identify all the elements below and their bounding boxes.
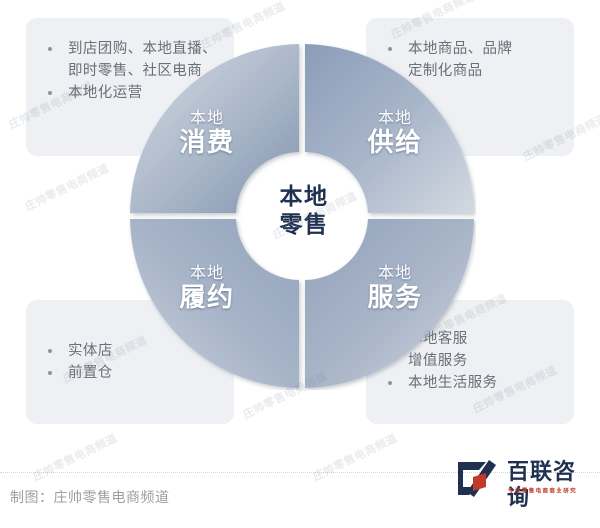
watermark: 庄帅零售电商频道: [30, 430, 120, 485]
diagram-canvas: 到店团购、本地直播、即时零售、社区电商 本地化运营 本地商品、品牌 定制化商品 …: [0, 0, 600, 528]
watermark: 庄帅零售电商频道: [22, 160, 112, 215]
segment-local-supply: [305, 44, 474, 213]
segment-local-consumption: [130, 44, 299, 213]
segment-local-fulfillment: [130, 219, 299, 388]
watermark: 庄帅零售电商频道: [310, 430, 400, 485]
logo-mark-icon: [455, 457, 499, 499]
four-quadrant-donut: [128, 42, 476, 390]
logo-text: 百联咨询: [507, 459, 595, 511]
segment-local-service: [305, 219, 474, 388]
brand-logo: 百联咨询 专注零售电商商业研究: [455, 455, 595, 503]
logo-subtitle: 专注零售电商商业研究: [508, 487, 577, 495]
credit-text: 制图：庄帅零售电商频道: [10, 487, 170, 507]
